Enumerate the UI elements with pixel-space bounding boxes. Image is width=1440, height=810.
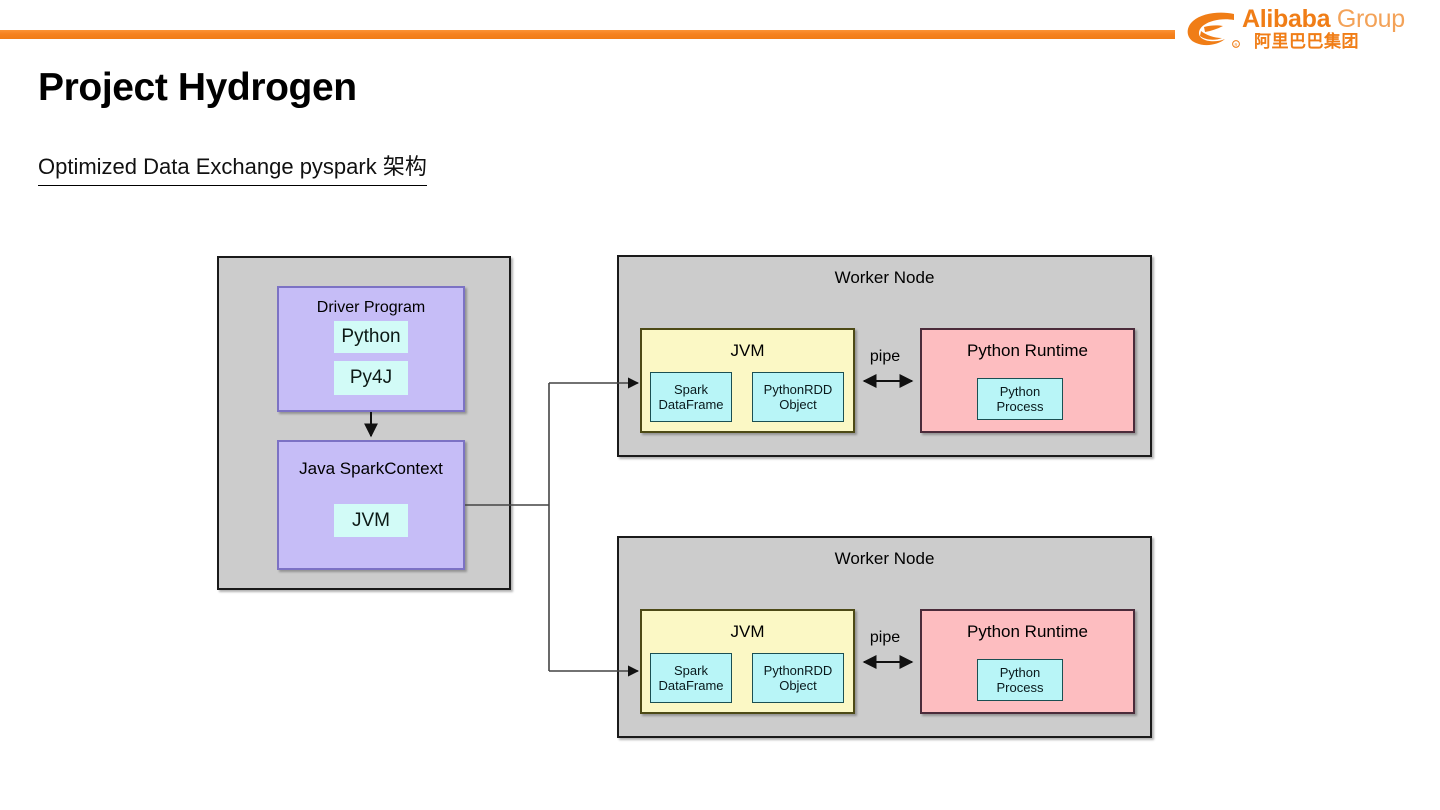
driver-python-box: Python xyxy=(334,321,408,353)
worker-node-2-pythonrdd-box: PythonRDD Object xyxy=(752,653,844,703)
worker-node-2-spark-dataframe-label: Spark DataFrame xyxy=(658,663,723,693)
worker-node-1-spark-dataframe-label: Spark DataFrame xyxy=(658,382,723,412)
worker-node-1-title: Worker Node xyxy=(619,268,1150,288)
sparkcontext-jvm-box: JVM xyxy=(334,504,408,537)
worker-node-1-python-runtime-title: Python Runtime xyxy=(922,341,1133,361)
worker-node-2-python-runtime-title: Python Runtime xyxy=(922,622,1133,642)
worker-node-2-python-process-box: Python Process xyxy=(977,659,1063,701)
architecture-diagram: Driver Program Python Py4J Java SparkCon… xyxy=(0,0,1440,810)
worker-node-2-pythonrdd-label: PythonRDD Object xyxy=(764,663,833,693)
worker-node-2-title: Worker Node xyxy=(619,549,1150,569)
worker-node-1-pythonrdd-label: PythonRDD Object xyxy=(764,382,833,412)
worker-node-1-python-process-box: Python Process xyxy=(977,378,1063,420)
driver-program-title: Driver Program xyxy=(279,299,463,317)
driver-py4j-box: Py4J xyxy=(334,361,408,395)
worker-node-1-pipe-label: pipe xyxy=(862,348,908,366)
worker-node-2-pipe-label: pipe xyxy=(862,629,908,647)
worker-node-1-spark-dataframe-box: Spark DataFrame xyxy=(650,372,732,422)
worker-node-2-spark-dataframe-box: Spark DataFrame xyxy=(650,653,732,703)
java-sparkcontext-title: Java SparkContext xyxy=(279,459,463,479)
worker-node-1-python-process-label: Python Process xyxy=(997,384,1044,414)
worker-node-2-jvm-title: JVM xyxy=(642,622,853,642)
worker-node-1-pythonrdd-box: PythonRDD Object xyxy=(752,372,844,422)
worker-node-2-python-process-label: Python Process xyxy=(997,665,1044,695)
worker-node-1-jvm-title: JVM xyxy=(642,341,853,361)
